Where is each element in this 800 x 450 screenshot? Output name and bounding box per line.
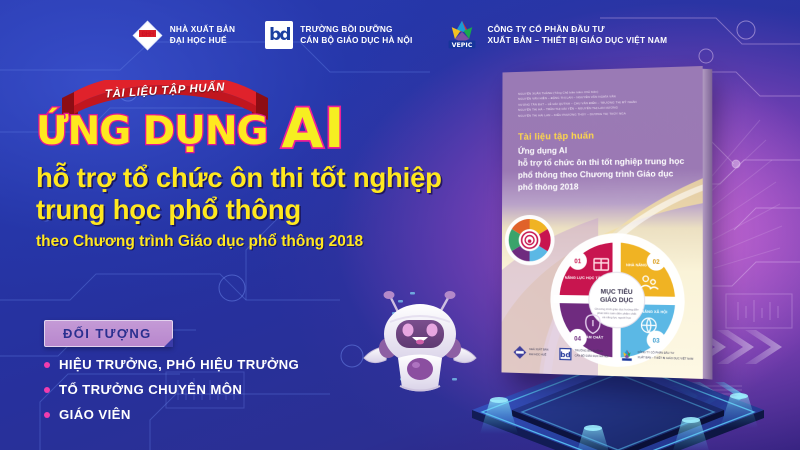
wheel-label-03: KĨ NĂNG XÃ HỘI: [637, 309, 668, 315]
svg-text:03: 03: [653, 338, 661, 344]
bullet-dot-icon: [44, 412, 50, 418]
vepic-star-icon: VEPIC: [443, 20, 481, 50]
wheel-number-01: 01: [569, 251, 587, 269]
wheel-label-01: NĂNG LỰC HỌC TẬP: [565, 275, 604, 281]
hero-ai-text: AI: [282, 102, 346, 156]
dhh-diamond-icon: ĐHH: [133, 20, 163, 50]
wheel-label-04: PHẨM CHẤT: [581, 334, 604, 340]
book-title: Ứng dụng AI hỗ trợ tổ chức ôn thi tốt ng…: [518, 143, 688, 194]
list-item: TỔ TRƯỞNG CHUYÊN MÔN: [44, 382, 299, 397]
wheel-center-title: MỤC TIÊU: [601, 286, 633, 296]
book-kicker: Tài liệu tập huấn: [518, 130, 594, 141]
wheel-label-02: NHÀ NĂNG NGÔN NGỮ: [626, 262, 671, 268]
logo-bd-label: TRƯỜNG BỒI DƯỠNG CÁN BỘ GIÁO DỤC HÀ NỘI: [300, 24, 412, 45]
book-footer-logo-bd: bd TRƯỜNG BỒI DƯỠNG CÁN BỘ GIÁO DỤC HÀ N…: [559, 347, 608, 361]
hero-line-3: trung học phổ thông: [36, 194, 506, 226]
audience-list: HIỆU TRƯỞNG, PHÓ HIỆU TRƯỞNG TỔ TRƯỞNG C…: [44, 357, 299, 432]
logo-nxb-label: NHÀ XUẤT BẢN ĐẠI HỌC HUẾ: [170, 24, 236, 45]
svg-text:và năng lực người học: và năng lực người học: [602, 315, 632, 320]
bd-square-icon: bd: [265, 21, 293, 49]
logo-nxb-dai-hoc-hue: ĐHH NHÀ XUẤT BẢN ĐẠI HỌC HUẾ: [133, 20, 236, 50]
book-front-cover: NGUYỄN XUÂN THÀNH (Tổng Chủ biên kiêm Ch…: [501, 66, 702, 379]
logo-vepic: VEPIC CÔNG TY CỔ PHẦN ĐẦU TƯ XUẤT BẢN – …: [443, 20, 668, 50]
cover-small-wheel-graphic: [504, 214, 556, 267]
book-showcase: NGUYỄN XUÂN THÀNH (Tổng Chủ biên kiêm Ch…: [468, 62, 768, 422]
audience-badge: ĐỐI TƯỢNG: [44, 320, 173, 347]
publisher-logo-bar: ĐHH NHÀ XUẤT BẢN ĐẠI HỌC HUẾ bd TRƯỜNG B…: [0, 12, 800, 58]
hero-line-1: ỨNG DỤNG AI: [36, 106, 506, 156]
book-author-list: NGUYỄN XUÂN THÀNH (Tổng Chủ biên kiêm Ch…: [518, 87, 692, 119]
bullet-dot-icon: [44, 362, 50, 368]
logo-vepic-label: CÔNG TY CỔ PHẦN ĐẦU TƯ XUẤT BẢN – THIẾT …: [488, 24, 668, 45]
book-spine: [702, 69, 713, 380]
svg-text:01: 01: [574, 259, 581, 265]
list-item: HIỆU TRƯỞNG, PHÓ HIỆU TRƯỞNG: [44, 357, 299, 372]
svg-text:bd: bd: [560, 349, 570, 359]
book-footer-logo-vepic: CÔNG TY CỔ PHẦN ĐẦU TƯ XUẤT BẢN – THIẾT …: [620, 348, 693, 364]
hero-line-2: hỗ trợ tổ chức ôn thi tốt nghiệp: [36, 162, 506, 194]
ai-robot-mascot: [360, 282, 480, 397]
bullet-dot-icon: [44, 387, 50, 393]
book-footer-logo-dhh: NHÀ XUẤT BẢN ĐẠI HỌC HUẾ: [513, 346, 548, 360]
svg-text:VEPIC: VEPIC: [451, 42, 472, 49]
book-cover: NGUYỄN XUÂN THÀNH (Tổng Chủ biên kiêm Ch…: [501, 66, 702, 379]
promo-poster: ĐHH NHÀ XUẤT BẢN ĐẠI HỌC HUẾ bd TRƯỜNG B…: [0, 0, 800, 450]
hero-headline: ỨNG DỤNG AI hỗ trợ tổ chức ôn thi tốt ng…: [36, 106, 506, 251]
list-item: GIÁO VIÊN: [44, 407, 299, 422]
wheel-number-02: 02: [647, 252, 666, 271]
hero-line-4: theo Chương trình Giáo dục phổ thông 201…: [36, 233, 506, 251]
logo-truong-boi-duong: bd TRƯỜNG BỒI DƯỠNG CÁN BỘ GIÁO DỤC HÀ N…: [265, 21, 412, 49]
hero-ung-dung-text: ỨNG DỤNG: [36, 112, 268, 151]
